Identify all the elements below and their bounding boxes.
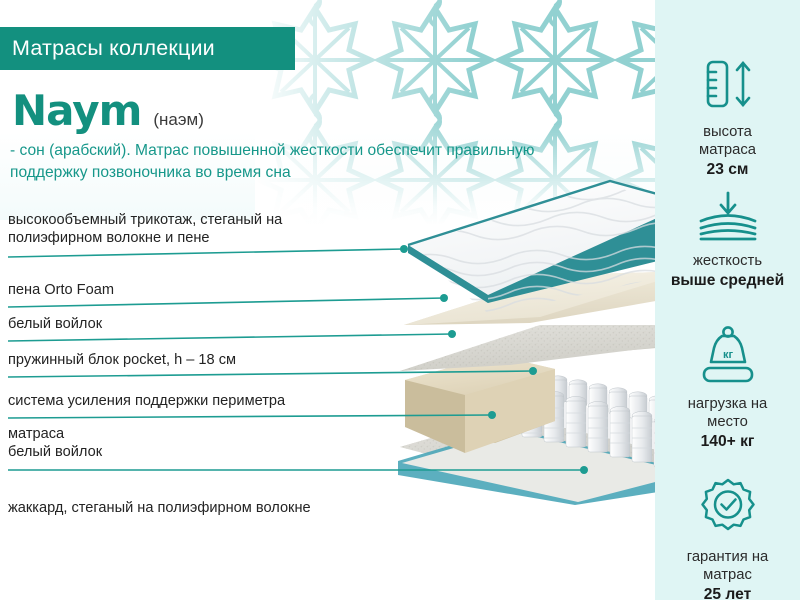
layer-label-felt-bottom: матраса белый войлок <box>8 426 102 462</box>
promo-banner-page: Матрасы коллекции Naym (наэм) - сон (ара… <box>0 0 800 600</box>
layer-label-pocket: пружинный блок pocket, h – 18 см <box>8 352 236 370</box>
spec-warranty: гарантия на матрас 25 лет <box>655 477 800 600</box>
weight-load-icon: кг <box>692 324 764 389</box>
weight-icon-label: кг <box>722 349 733 361</box>
layer-label-jacquard: жаккард, стеганый на полиэфирном волокне <box>8 500 311 518</box>
layer-label-felt-top: белый войлок <box>8 316 102 334</box>
firmness-icon <box>691 191 765 246</box>
spec-height-title: высота матраса <box>699 123 756 159</box>
spec-warranty-title: гарантия на матрас <box>687 548 769 584</box>
spec-firmness: жесткость выше средней <box>655 191 800 290</box>
spec-load-title: нагрузка на место <box>688 395 768 431</box>
layer-label-knit: высокообъемный трикотаж, стеганый на пол… <box>8 212 282 248</box>
spec-height-value: 23 см <box>707 161 749 179</box>
spec-warranty-value: 25 лет <box>704 586 751 600</box>
spec-firmness-title: жесткость <box>693 252 762 270</box>
spec-load-value: 140+ кг <box>701 433 755 451</box>
spec-load: кг нагрузка на место 140+ кг <box>655 324 800 451</box>
spec-height: высота матраса 23 см <box>655 56 800 179</box>
specs-sidebar: высота матраса 23 см жесткость выш <box>655 0 800 600</box>
ruler-height-icon <box>698 56 758 117</box>
layer-labels: высокообъемный трикотаж, стеганый на пол… <box>0 0 660 600</box>
layer-label-perimeter: система усиления поддержки периметра <box>8 393 285 411</box>
warranty-badge-icon <box>697 477 759 542</box>
spec-firmness-value: выше средней <box>671 272 784 290</box>
layer-label-orto-foam: пена Orto Foam <box>8 282 114 300</box>
